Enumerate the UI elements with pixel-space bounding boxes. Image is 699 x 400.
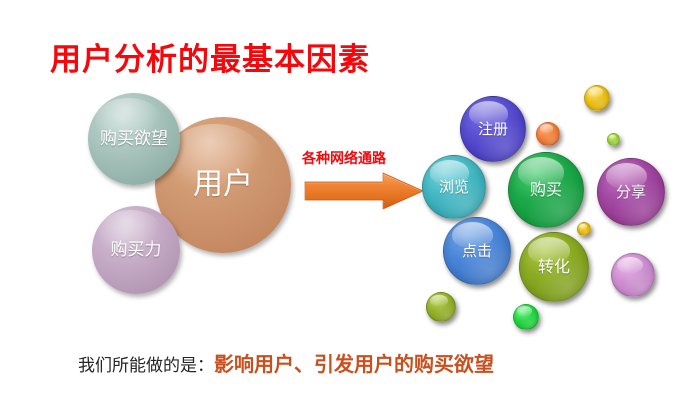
flow-arrow [303,172,425,210]
connector-label: 各种网络通路 [302,148,386,168]
bubble-purchase-desire-label: 购买欲望 [88,130,180,148]
decor-bubble-orange [536,122,560,146]
decor-bubble-gold-mid [577,222,591,236]
footer-caption: 我们所能做的是：影响用户、引发用户的购买欲望 [78,348,494,377]
decor-bubble-lime-dot [607,133,620,146]
bubble-convert[interactable]: 转化 [519,232,589,302]
bubble-purchase-power-label: 购买力 [92,241,180,259]
bubble-register-label: 注册 [461,121,525,137]
footer-emphasis: 影响用户、引发用户的购买欲望 [214,352,494,376]
bubble-buy[interactable]: 购买 [508,152,584,228]
bubble-buy-label: 购买 [509,181,583,198]
bubble-register[interactable]: 注册 [460,96,526,162]
decor-bubble-orchid [611,253,655,297]
bubble-purchase-desire[interactable]: 购买欲望 [88,93,180,185]
bubble-browse[interactable]: 浏览 [422,155,486,219]
bubble-user-label: 用户 [155,169,291,201]
page-title: 用户分析的最基本因素 [50,34,370,79]
bubble-click[interactable]: 点击 [443,217,511,285]
bubble-share-label: 分享 [598,184,664,200]
footer-lead: 我们所能做的是： [78,356,214,376]
bubble-share[interactable]: 分享 [597,158,665,226]
decor-bubble-gold-top [584,85,610,111]
bubble-click-label: 点击 [444,243,510,259]
decor-bubble-olive [426,292,456,322]
arrow-right-icon [303,172,425,210]
bubble-browse-label: 浏览 [423,179,485,195]
bubble-purchase-power[interactable]: 购买力 [92,206,180,294]
decor-bubble-green-small [513,304,539,330]
slide-canvas: 用户分析的最基本因素 用户 购买欲望 购买力 各种网络通路 [0,0,699,400]
bubble-convert-label: 转化 [520,258,588,275]
